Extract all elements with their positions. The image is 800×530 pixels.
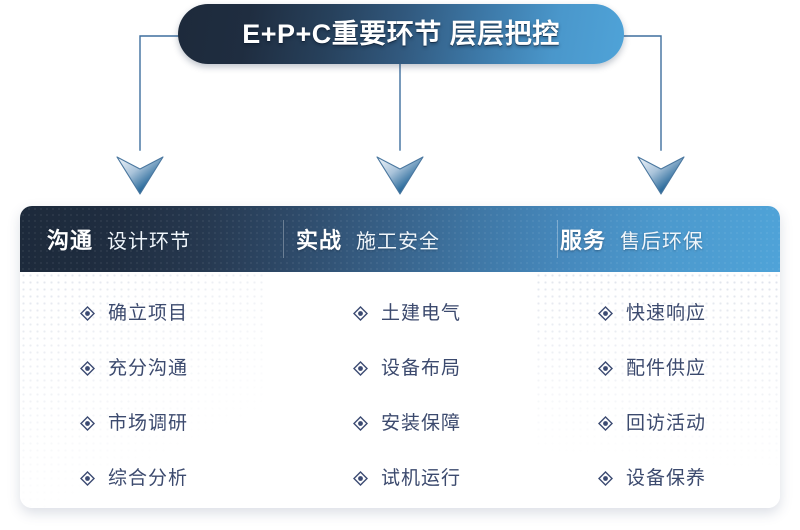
diamond-bullet-icon <box>80 471 95 486</box>
diamond-bullet-icon <box>598 306 613 321</box>
list-item-label: 快速响应 <box>626 304 706 323</box>
list-item[interactable]: 设备布局 <box>353 341 535 396</box>
diamond-bullet-icon <box>598 361 613 376</box>
list-item[interactable]: 土建电气 <box>353 286 535 341</box>
diamond-bullet-icon <box>598 471 613 486</box>
stages-header: 沟通 设计环节 实战 施工安全 服务 售后环保 <box>20 206 780 272</box>
list-item-label: 配件供应 <box>626 359 706 378</box>
stages-panel: 沟通 设计环节 实战 施工安全 服务 售后环保 <box>20 206 780 508</box>
header-strong-label: 服务 <box>560 223 606 255</box>
diamond-bullet-icon <box>80 361 95 376</box>
header-divider-2 <box>557 220 558 258</box>
connector-right <box>624 36 661 150</box>
list-item-label: 充分沟通 <box>108 359 188 378</box>
header-light-label: 施工安全 <box>356 225 440 254</box>
list-item[interactable]: 回访活动 <box>598 396 780 451</box>
list-item[interactable]: 配件供应 <box>598 341 780 396</box>
list-item-label: 安装保障 <box>381 414 461 433</box>
page-title: E+P+C重要环节 层层把控 <box>242 21 560 48</box>
column-service: 快速响应 配件供应 <box>535 272 780 508</box>
diamond-bullet-icon <box>353 361 368 376</box>
list-item[interactable]: 确立项目 <box>80 286 263 341</box>
diamond-bullet-icon <box>353 306 368 321</box>
list-item-label: 设备保养 <box>626 469 706 488</box>
list-item[interactable]: 设备保养 <box>598 451 780 506</box>
item-list-service: 快速响应 配件供应 <box>598 286 780 506</box>
header-strong-label: 沟通 <box>47 223 93 255</box>
diamond-bullet-icon <box>353 471 368 486</box>
list-item-label: 试机运行 <box>381 469 461 488</box>
list-item[interactable]: 试机运行 <box>353 451 535 506</box>
list-item[interactable]: 快速响应 <box>598 286 780 341</box>
list-item-label: 回访活动 <box>626 414 706 433</box>
header-divider-1 <box>283 220 284 258</box>
diagram-title-banner: E+P+C重要环节 层层把控 <box>178 4 624 64</box>
list-item[interactable]: 充分沟通 <box>80 341 263 396</box>
list-item[interactable]: 市场调研 <box>80 396 263 451</box>
diamond-bullet-icon <box>353 416 368 431</box>
list-item[interactable]: 综合分析 <box>80 451 263 506</box>
diagram-canvas: E+P+C重要环节 层层把控 <box>0 0 800 530</box>
header-light-label: 设计环节 <box>107 225 191 254</box>
arrow-down-center-icon <box>375 152 425 196</box>
connector-left <box>140 36 178 150</box>
header-column-execution[interactable]: 实战 施工安全 <box>263 206 535 272</box>
column-execution: 土建电气 设备布局 <box>263 272 535 508</box>
header-column-service[interactable]: 服务 售后环保 <box>535 206 780 272</box>
arrow-down-right-icon <box>636 152 686 196</box>
arrow-down-left-icon <box>115 152 165 196</box>
diamond-bullet-icon <box>80 416 95 431</box>
list-item-label: 确立项目 <box>108 304 188 323</box>
list-item-label: 土建电气 <box>381 304 461 323</box>
header-light-label: 售后环保 <box>620 225 704 254</box>
diamond-bullet-icon <box>80 306 95 321</box>
list-item[interactable]: 安装保障 <box>353 396 535 451</box>
list-item-label: 综合分析 <box>108 469 188 488</box>
header-column-communication[interactable]: 沟通 设计环节 <box>20 206 263 272</box>
item-list-execution: 土建电气 设备布局 <box>353 286 535 506</box>
list-item-label: 市场调研 <box>108 414 188 433</box>
column-communication: 确立项目 充分沟通 <box>20 272 263 508</box>
header-strong-label: 实战 <box>296 223 342 255</box>
stages-body: 确立项目 充分沟通 <box>20 272 780 508</box>
item-list-communication: 确立项目 充分沟通 <box>80 286 263 506</box>
list-item-label: 设备布局 <box>381 359 461 378</box>
diamond-bullet-icon <box>598 416 613 431</box>
